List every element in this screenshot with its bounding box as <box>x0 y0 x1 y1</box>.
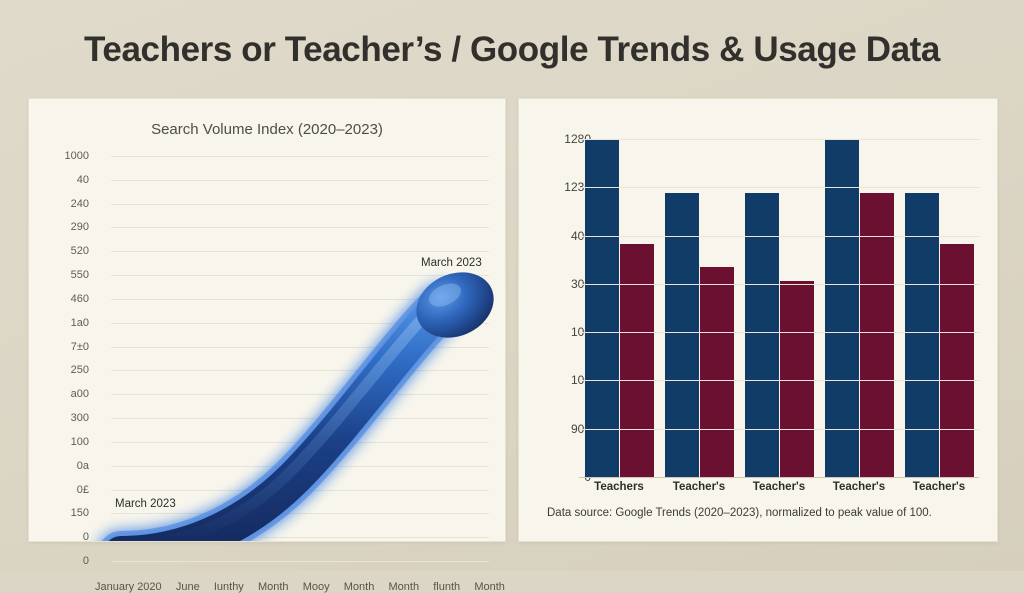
line-chart-y-tick: 100 <box>29 436 89 448</box>
line-chart-y-tick: a00 <box>29 388 89 400</box>
line-chart-y-tick: 300 <box>29 412 89 424</box>
line-chart-x-tick: Mooy <box>303 581 330 593</box>
line-chart-x-tick: Month <box>258 581 289 593</box>
line-chart-gridline <box>111 180 489 181</box>
bar-chart-groups <box>579 139 979 477</box>
page-title: Teachers or Teacher’s / Google Trends & … <box>0 30 1024 70</box>
line-chart-gridline <box>111 347 489 348</box>
bar-chart-x-tick: Teacher's <box>739 481 819 493</box>
line-chart-gridline <box>111 442 489 443</box>
bar-chart-group <box>819 139 899 477</box>
bar-chart-plot-area <box>579 139 979 477</box>
line-chart-gridline <box>111 561 489 562</box>
bar-chart-gridline <box>579 429 979 430</box>
page-background: Teachers or Teacher’s / Google Trends & … <box>0 0 1024 571</box>
line-chart-y-tick: 0£ <box>29 484 89 496</box>
line-chart-gridline <box>111 299 489 300</box>
line-chart-gridline <box>111 490 489 491</box>
line-chart-x-tick: January 2020 <box>95 581 162 593</box>
bar-chart-x-tick: Teacher's <box>899 481 979 493</box>
line-chart-y-tick: 0a <box>29 460 89 472</box>
line-chart-y-tick: 290 <box>29 221 89 233</box>
bar-chart-gridline <box>579 332 979 333</box>
line-chart-y-tick: 550 <box>29 269 89 281</box>
line-chart-gridline <box>111 275 489 276</box>
line-chart-x-axis: January 2020JuneIunthyMonthMooyMonthMont… <box>95 581 505 593</box>
line-chart-x-tick: Month <box>474 581 505 593</box>
bar-chart-axis-line <box>579 477 979 478</box>
bar-chart-group <box>899 139 979 477</box>
line-chart-gridline <box>111 227 489 228</box>
bar-chart-group <box>739 139 819 477</box>
line-annotation-right: March 2023 <box>421 257 482 269</box>
bar-navy[interactable] <box>585 139 619 477</box>
line-chart-x-tick: Iunthy <box>214 581 244 593</box>
line-chart-gridline <box>111 251 489 252</box>
bar-chart-gridline <box>579 187 979 188</box>
line-chart-gridline <box>111 513 489 514</box>
line-chart-y-tick: 520 <box>29 245 89 257</box>
bar-maroon[interactable] <box>700 267 734 477</box>
line-chart-y-tick: 460 <box>29 293 89 305</box>
bar-chart-x-tick: Teacher's <box>819 481 899 493</box>
line-chart-gridline <box>111 204 489 205</box>
line-chart-gridline <box>111 394 489 395</box>
line-chart-y-tick: 250 <box>29 364 89 376</box>
bar-chart-x-tick: Teachers <box>579 481 659 493</box>
line-chart-y-tick: 1000 <box>29 150 89 162</box>
line-chart-x-tick: Month <box>389 581 420 593</box>
line-chart-plot-area <box>111 151 489 473</box>
bar-chart-gridline <box>579 380 979 381</box>
bar-chart-source-note: Data source: Google Trends (2020–2023), … <box>547 507 987 519</box>
line-chart-y-tick: 7±0 <box>29 341 89 353</box>
bar-maroon[interactable] <box>780 281 814 477</box>
line-chart-y-tick: 0 <box>29 531 89 543</box>
line-chart-gridline <box>111 370 489 371</box>
bar-chart-group <box>579 139 659 477</box>
line-chart-gridline <box>111 466 489 467</box>
line-chart-y-tick: 0 <box>29 555 89 567</box>
bar-chart-x-axis: TeachersTeacher'sTeacher'sTeacher'sTeach… <box>579 481 979 493</box>
line-chart-gridline <box>111 323 489 324</box>
bar-chart-gridline <box>579 236 979 237</box>
bar-navy[interactable] <box>825 139 859 477</box>
line-chart-y-tick: 40 <box>29 174 89 186</box>
line-annotation-left: March 2023 <box>115 498 176 510</box>
bar-chart-panel: 128012304003001001009000 TeachersTeacher… <box>518 98 998 542</box>
line-chart-x-tick: June <box>176 581 200 593</box>
line-chart-x-tick: flunth <box>433 581 460 593</box>
bar-chart-group <box>659 139 739 477</box>
bar-maroon[interactable] <box>940 244 974 477</box>
line-chart-y-tick: 1a0 <box>29 317 89 329</box>
line-chart-gridline <box>111 537 489 538</box>
bar-chart-gridline <box>579 284 979 285</box>
line-chart-y-tick: 240 <box>29 198 89 210</box>
line-chart-gridline <box>111 418 489 419</box>
bar-chart-gridline <box>579 139 979 140</box>
line-chart-x-tick: Month <box>344 581 375 593</box>
line-chart-gridline <box>111 156 489 157</box>
line-chart-y-tick: 150 <box>29 507 89 519</box>
line-chart-panel: Search Volume Index (2020–2023) 10004024… <box>28 98 506 542</box>
bar-maroon[interactable] <box>620 244 654 477</box>
bar-chart-x-tick: Teacher's <box>659 481 739 493</box>
